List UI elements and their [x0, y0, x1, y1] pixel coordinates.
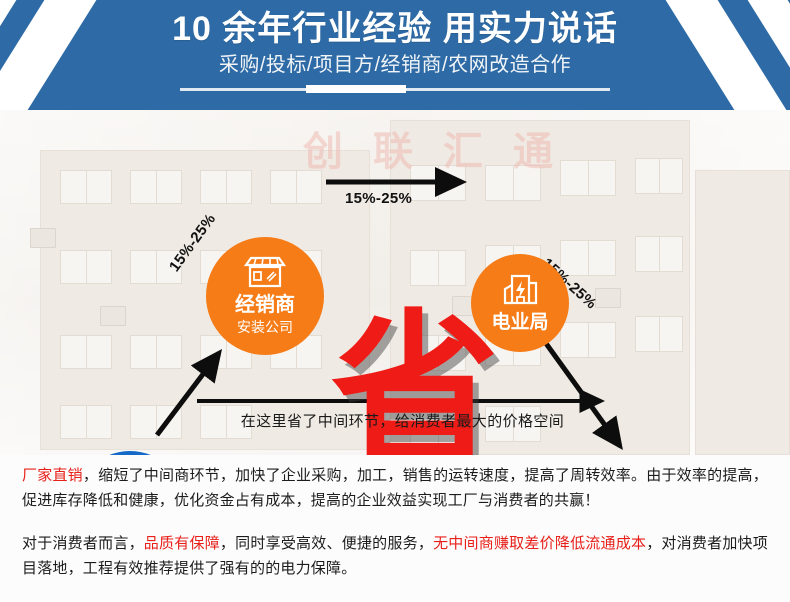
node-bureau[interactable]: 电业局 [471, 254, 569, 352]
footer-p1-rest: ，缩短了中间商环节，加快了企业采购，加工，销售的运转速度，提高了周转效率。由于效… [22, 467, 768, 509]
node-dealer-sublabel: 安装公司 [237, 317, 293, 337]
footer-paragraph-1: 厂家直销，缩短了中间商环节，加快了企业采购，加工，销售的运转速度，提高了周转效率… [22, 463, 768, 513]
diagram-caption: 在这里省了中间环节，给消费者最大的价格空间 [205, 410, 600, 431]
banner-divider [180, 84, 610, 94]
node-bureau-label: 电业局 [491, 313, 548, 333]
footer-p2-lead: 对于消费者而言， [22, 535, 144, 552]
footer-highlight-factory-direct: 厂家直销 [22, 467, 83, 484]
footer-highlight-quality: 品质有保障 [144, 535, 220, 552]
footer-paragraph-2: 对于消费者而言，品质有保障，同时享受高效、便捷的服务，无中间商赚取差价降低流通成… [22, 531, 768, 581]
banner-subtitle: 采购/投标/项目方/经销商/农网改造合作 [219, 51, 571, 79]
node-dealer-label: 经销商 [235, 295, 295, 316]
banner-title: 10 余年行业经验 用实力说话 [172, 9, 618, 49]
storefront-icon [243, 256, 287, 293]
header-banner: 10 余年行业经验 用实力说话 采购/投标/项目方/经销商/农网改造合作 [0, 0, 790, 110]
infographic-page: 10 余年行业经验 用实力说话 采购/投标/项目方/经销商/农网改造合作 [0, 0, 790, 602]
power-building-icon [501, 273, 539, 310]
footer-highlight-no-middleman: 无中间商赚取差价降低流通成本 [433, 535, 646, 552]
footer-p2-mid: ，同时享受高效、便捷的服务， [220, 535, 433, 552]
center-word-save: 省 [331, 317, 499, 455]
footer-text-block: 厂家直销，缩短了中间商环节，加快了企业采购，加工，销售的运转速度，提高了周转效率… [0, 455, 790, 602]
arrow-label-dealer-to-bureau: 15%-25% [345, 190, 412, 207]
diagram-stage: 创 联 汇 通 15%-25% 15%-25% 15%-25% 省 在这里省了中 [0, 110, 790, 455]
node-dealer[interactable]: 经销商 安装公司 [206, 237, 324, 355]
